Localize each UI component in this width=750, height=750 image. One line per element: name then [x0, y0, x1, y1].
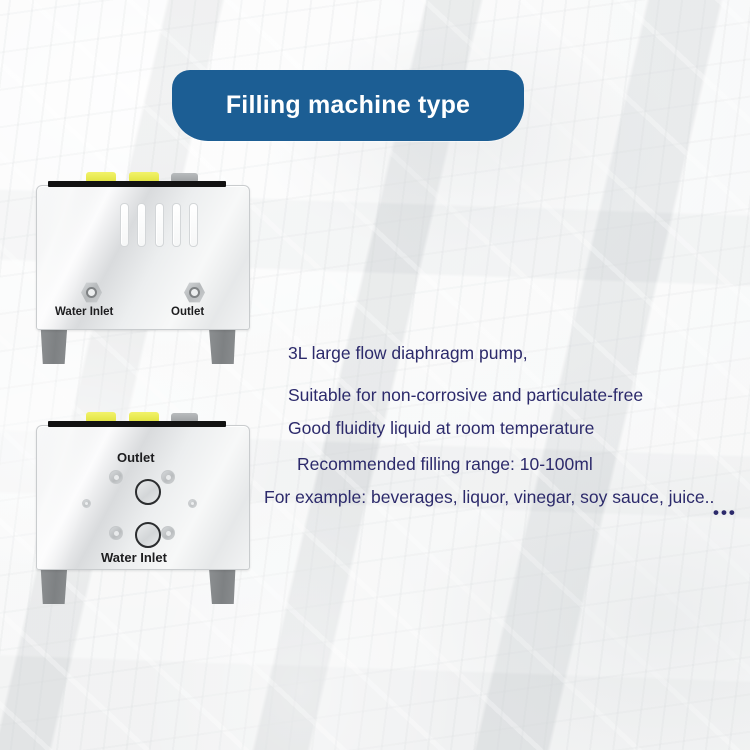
small-bolt-icon — [188, 499, 197, 508]
flange-bolt-icon — [161, 526, 175, 540]
outlet-fitting-icon — [184, 282, 205, 303]
machine-2-label-water-inlet: Water Inlet — [101, 550, 167, 565]
flange-bolt-icon — [109, 526, 123, 540]
page-title-banner: Filling machine type — [172, 70, 524, 141]
page-title: Filling machine type — [226, 91, 470, 120]
flange-bolt-icon — [161, 470, 175, 484]
water-inlet-fitting-icon — [81, 282, 102, 303]
machine-body-panel: Water Inlet Outlet — [36, 185, 250, 330]
machine-illustration-1: Water Inlet Outlet — [28, 165, 258, 370]
vent-slot — [120, 203, 129, 247]
outlet-port-icon — [135, 479, 161, 505]
water-inlet-port-icon — [135, 522, 161, 548]
product-1-line-2: Suitable for non-corrosive and particula… — [288, 385, 643, 406]
vent-slot — [155, 203, 164, 247]
product-row-2: Outlet Water Inlet 1.5L heat-resistant d… — [0, 405, 750, 620]
vent-slot-group — [120, 203, 198, 245]
vent-slot — [172, 203, 181, 247]
port-hole — [86, 287, 97, 298]
metal-sheen — [36, 425, 152, 570]
vent-slot — [137, 203, 146, 247]
machine-top-bar — [48, 421, 226, 427]
port-hole — [189, 287, 200, 298]
machine-top-bar — [48, 181, 226, 187]
product-1-line-1: 3L large flow diaphragm pump, — [288, 343, 528, 364]
machine-2-label-outlet: Outlet — [117, 450, 155, 465]
product-spec-page: Filling machine type — [0, 0, 750, 750]
flange-bolt-icon — [109, 470, 123, 484]
machine-1-label-water-inlet: Water Inlet — [55, 306, 113, 318]
vent-slot — [189, 203, 198, 247]
machine-illustration-2: Outlet Water Inlet — [28, 405, 258, 610]
machine-1-label-outlet: Outlet — [171, 306, 204, 318]
machine-body-panel: Outlet Water Inlet — [36, 425, 250, 570]
product-row-1: Water Inlet Outlet 3L large flow diaphra… — [0, 165, 750, 380]
small-bolt-icon — [82, 499, 91, 508]
